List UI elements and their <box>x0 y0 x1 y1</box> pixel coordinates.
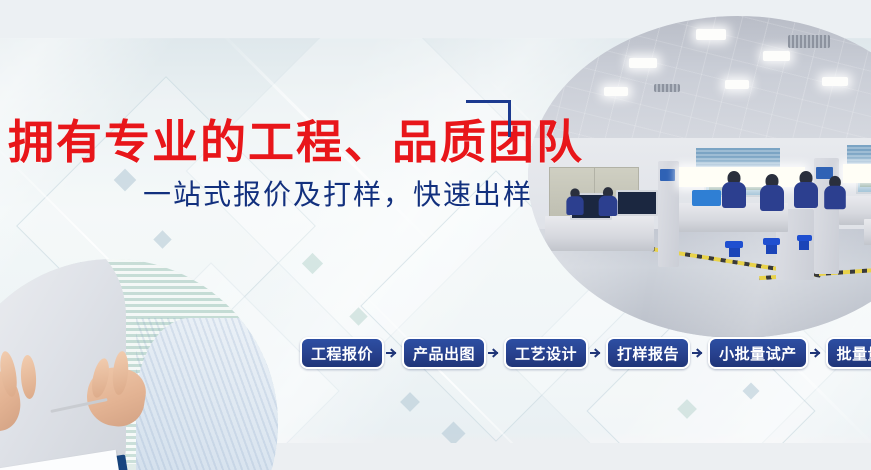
process-step-3[interactable]: 工艺设计 <box>504 337 588 369</box>
corner-bracket-decoration <box>466 100 511 137</box>
office-workstations-photo <box>528 16 871 338</box>
arrow-right-icon <box>588 339 606 367</box>
arrow-right-icon <box>384 339 402 367</box>
process-step-6[interactable]: 批量量产 <box>826 337 871 369</box>
process-step-2[interactable]: 产品出图 <box>402 337 486 369</box>
arrow-right-icon <box>808 339 826 367</box>
process-step-4[interactable]: 打样报告 <box>606 337 690 369</box>
arrow-right-icon <box>690 339 708 367</box>
page-subtitle: 一站式报价及打样，快速出样 <box>143 181 533 209</box>
business-meeting-hands-photo <box>0 259 278 470</box>
process-step-5[interactable]: 小批量试产 <box>708 337 808 369</box>
promo-banner: 拥有专业的工程、品质团队 一站式报价及打样，快速出样 工程报价产品出图工艺设计打… <box>0 0 871 470</box>
arrow-right-icon <box>486 339 504 367</box>
process-step-1[interactable]: 工程报价 <box>300 337 384 369</box>
process-flow: 工程报价产品出图工艺设计打样报告小批量试产批量量产 <box>300 337 871 369</box>
